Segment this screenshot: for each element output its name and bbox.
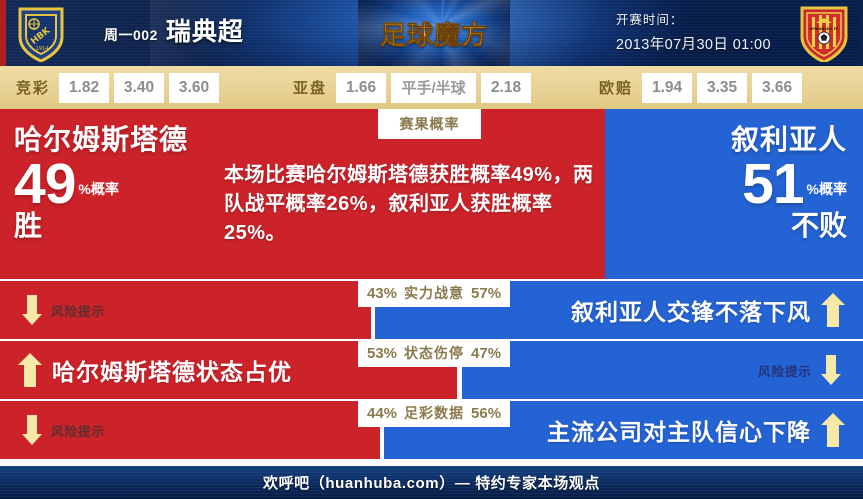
comparison-bar-strength: 43% 实力战意 57% 风险提示 叙利亚人交锋不落下风 — [0, 281, 863, 339]
away-team-name: 叙利亚人 — [731, 126, 847, 154]
arrow-down-icon — [22, 295, 42, 325]
kickoff-time-value: 2013年07月30日 01:00 — [616, 33, 771, 54]
bar-right-percent: 57% — [471, 285, 501, 302]
bar-center-badge: 53% 状态伤停 47% — [358, 339, 510, 367]
odds-group-jingcai: 竞彩 1.82 3.40 3.60 — [16, 73, 219, 103]
svg-text:SYRIANSKA FC: SYRIANSKA FC — [809, 27, 839, 31]
home-team-crest-icon: HBK 1914 — [12, 4, 70, 62]
bar-center-badge: 43% 实力战意 57% — [358, 279, 510, 307]
site-brand-logo: 足球魔方 — [358, 0, 510, 66]
odds-cell[interactable]: 3.66 — [752, 73, 802, 103]
kickoff-time-block: 开赛时间： 2013年07月30日 01:00 — [616, 9, 771, 54]
arrow-up-icon — [821, 293, 845, 327]
probability-summary-text: 本场比赛哈尔姆斯塔德获胜概率49%，两队战平概率26%，叙利亚人获胜概率25%。 — [224, 161, 614, 248]
odds-group-oupei: 欧赔 1.94 3.35 3.66 — [599, 73, 802, 103]
bar-right-highlight: 叙利亚人交锋不落下风 — [571, 281, 845, 339]
tab-label: 赛果概率 — [400, 114, 460, 134]
odds-cell[interactable]: 2.18 — [481, 73, 531, 103]
odds-group-label: 亚盘 — [293, 77, 327, 98]
home-probability-suffix: %概率 — [78, 179, 118, 199]
bar-left-percent: 43% — [367, 285, 397, 302]
away-probability-suffix: %概率 — [807, 179, 847, 199]
home-team-name: 哈尔姆斯塔德 — [14, 126, 188, 154]
arrow-up-icon — [821, 413, 845, 447]
bar-metric-label: 状态伤停 — [404, 343, 464, 363]
bar-right-percent: 56% — [471, 405, 501, 422]
odds-cell[interactable]: 3.60 — [169, 73, 219, 103]
bar-center-badge: 44% 足彩数据 56% — [358, 399, 510, 427]
bar-right-percent: 47% — [471, 345, 501, 362]
highlight-text: 哈尔姆斯塔德状态占优 — [52, 353, 292, 387]
brand-name-label: 足球魔方 — [380, 15, 488, 52]
footer-credit-text: 欢呼吧（huanhuba.com）— 特约专家本场观点 — [263, 472, 600, 493]
odds-group-yapan: 亚盘 1.66 平手/半球 2.18 — [293, 73, 531, 103]
risk-note-label: 风险提示 — [758, 361, 812, 380]
highlight-text: 主流公司对主队信心下降 — [547, 413, 811, 447]
bar-left-highlight: 哈尔姆斯塔德状态占优 — [18, 341, 292, 399]
league-name-label: 瑞典超 — [166, 12, 244, 48]
bar-left-risk-note: 风险提示 — [22, 401, 105, 459]
odds-cell[interactable]: 3.40 — [114, 73, 164, 103]
league-title-block: 周一002 瑞典超 — [104, 12, 244, 48]
result-probability-panel: 赛果概率 哈尔姆斯塔德 49 %概率 胜 叙利亚人 51 %概率 不败 本场比赛… — [0, 109, 863, 279]
kickoff-time-label: 开赛时间： — [616, 9, 771, 28]
arrow-down-icon — [22, 415, 42, 445]
risk-note-label: 风险提示 — [51, 301, 105, 320]
comparison-bars: 43% 实力战意 57% 风险提示 叙利亚人交锋不落下风 53% 状态伤停 47… — [0, 281, 863, 461]
away-team-crest-icon: SYRIANSKA FC — [795, 4, 853, 62]
comparison-bar-lottery-data: 44% 足彩数据 56% 风险提示 主流公司对主队信心下降 — [0, 401, 863, 459]
header-left-edge — [0, 0, 6, 66]
home-probability-value: 49 — [14, 158, 75, 210]
away-probability-block: 叙利亚人 51 %概率 不败 — [731, 126, 847, 240]
away-outcome-label: 不败 — [731, 212, 847, 240]
svg-text:1914: 1914 — [36, 46, 49, 52]
arrow-down-icon — [821, 355, 841, 385]
odds-cell[interactable]: 1.94 — [642, 73, 692, 103]
bar-left-percent: 53% — [367, 345, 397, 362]
home-outcome-label: 胜 — [14, 212, 188, 240]
odds-cell[interactable]: 1.66 — [336, 73, 386, 103]
odds-group-label: 竞彩 — [16, 77, 50, 98]
bar-right-risk-note: 风险提示 — [758, 341, 841, 399]
odds-cell[interactable]: 1.82 — [59, 73, 109, 103]
arrow-up-icon — [18, 353, 42, 387]
odds-cell-handicap[interactable]: 平手/半球 — [391, 73, 476, 103]
odds-group-label: 欧赔 — [599, 77, 633, 98]
bar-left-percent: 44% — [367, 405, 397, 422]
header-right-edge — [858, 0, 863, 66]
comparison-bar-form: 53% 状态伤停 47% 哈尔姆斯塔德状态占优 风险提示 — [0, 341, 863, 399]
bar-metric-label: 实力战意 — [404, 283, 464, 303]
bar-right-highlight: 主流公司对主队信心下降 — [547, 401, 845, 459]
highlight-text: 叙利亚人交锋不落下风 — [571, 293, 811, 327]
match-round-label: 周一002 — [104, 25, 158, 45]
match-preview-infographic: HBK 1914 周一002 瑞典超 足球魔方 开赛时间： 2013年07月30… — [0, 0, 863, 499]
footer-bar: 欢呼吧（huanhuba.com）— 特约专家本场观点 — [0, 466, 863, 499]
home-probability-block: 哈尔姆斯塔德 49 %概率 胜 — [14, 126, 188, 240]
odds-cell[interactable]: 3.35 — [697, 73, 747, 103]
match-header: HBK 1914 周一002 瑞典超 足球魔方 开赛时间： 2013年07月30… — [0, 0, 863, 66]
odds-bar: 竞彩 1.82 3.40 3.60 亚盘 1.66 平手/半球 2.18 欧赔 … — [0, 66, 863, 109]
bar-left-risk-note: 风险提示 — [22, 281, 105, 339]
risk-note-label: 风险提示 — [51, 421, 105, 440]
tab-result-probability[interactable]: 赛果概率 — [378, 109, 481, 139]
bar-metric-label: 足彩数据 — [404, 403, 464, 423]
away-probability-value: 51 — [742, 158, 803, 210]
